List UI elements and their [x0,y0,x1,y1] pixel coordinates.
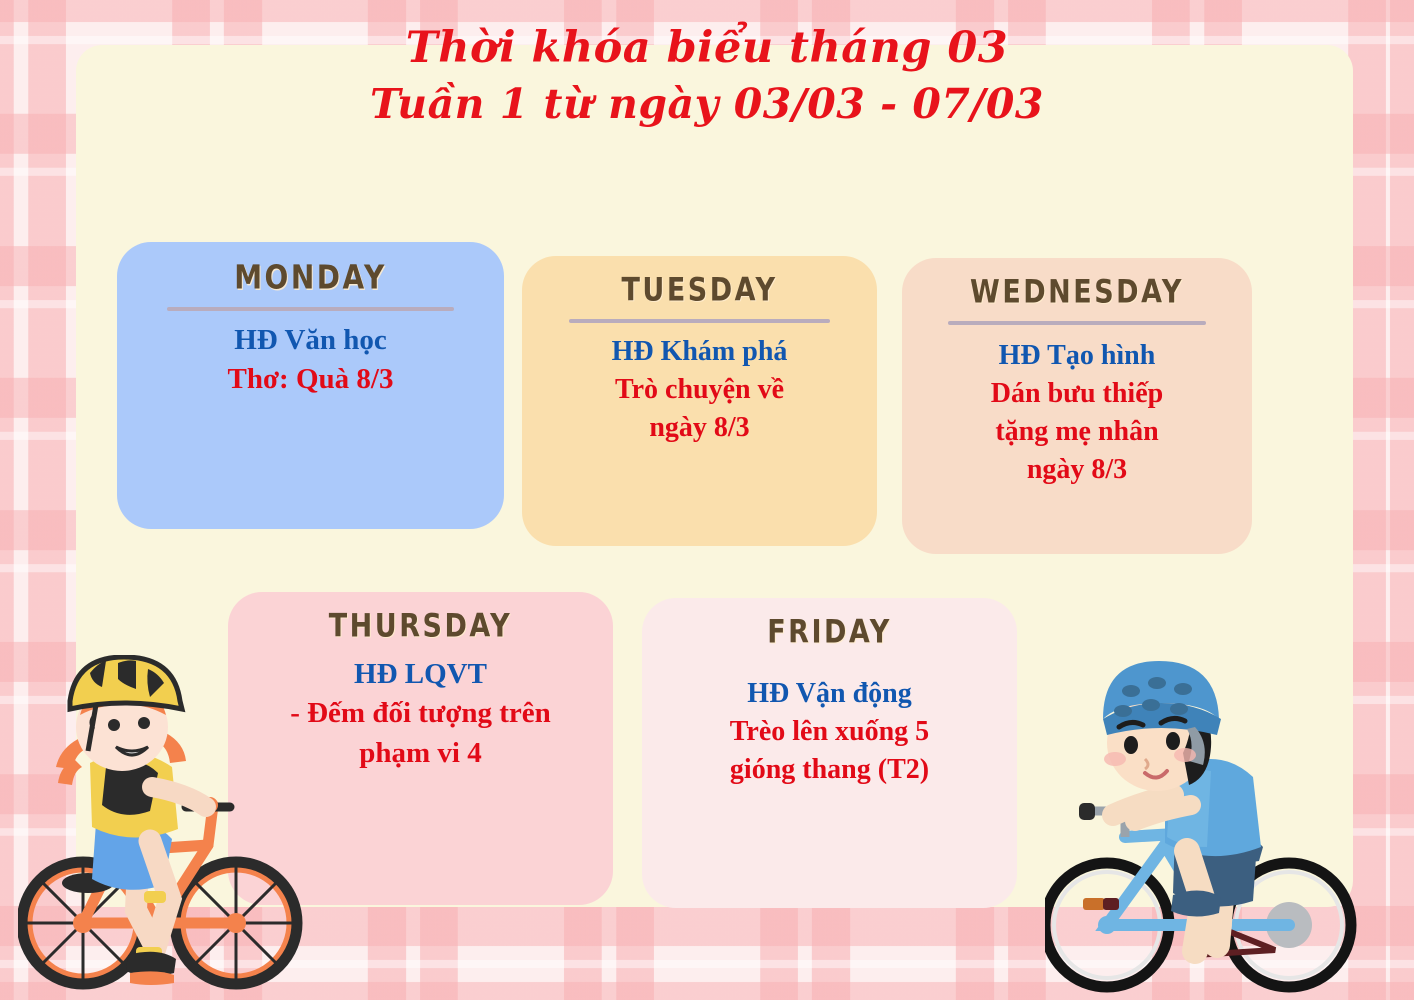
day-subject-wednesday: HĐ Tạo hình [920,337,1234,375]
day-subject-friday: HĐ Vận động [660,675,999,713]
day-header-friday: FRIDAY [660,614,999,651]
day-body-wednesday: HĐ Tạo hình Dán bưu thiếp tặng mẹ nhân n… [920,337,1234,489]
day-divider-wednesday [948,321,1205,325]
poster-title: Thời khóa biểu tháng 03 Tuần 1 từ ngày 0… [0,20,1414,131]
day-header-tuesday: TUESDAY [540,272,859,309]
day-header-wednesday: WEDNESDAY [920,274,1234,311]
day-header-thursday: THURSDAY [246,608,595,645]
day-detail-friday-line-1: Trèo lên xuống 5 [660,713,999,751]
day-header-monday: MONDAY [135,258,486,297]
day-detail-tuesday-line-2: ngày 8/3 [540,409,859,447]
day-divider-tuesday [569,319,831,323]
day-body-friday: HĐ Vận động Trèo lên xuống 5 gióng thang… [660,675,999,789]
day-card-wednesday[interactable]: WEDNESDAY HĐ Tạo hình Dán bưu thiếp tặng… [902,258,1252,554]
day-detail-wednesday-line-3: ngày 8/3 [920,451,1234,489]
title-line-2: Tuần 1 từ ngày 03/03 - 07/03 [0,77,1414,131]
day-body-monday: HĐ Văn học Thơ: Quà 8/3 [135,321,486,400]
day-body-tuesday: HĐ Khám phá Trò chuyện về ngày 8/3 [540,333,859,447]
day-card-monday[interactable]: MONDAY HĐ Văn học Thơ: Quà 8/3 [117,242,504,529]
day-detail-wednesday-line-2: tặng mẹ nhân [920,413,1234,451]
day-detail-tuesday-line-1: Trò chuyện về [540,371,859,409]
day-divider-monday [167,307,455,311]
day-subject-tuesday: HĐ Khám phá [540,333,859,371]
day-detail-monday-line-1: Thơ: Quà 8/3 [135,360,486,399]
day-detail-friday-line-2: gióng thang (T2) [660,751,999,789]
day-detail-wednesday-line-1: Dán bưu thiếp [920,375,1234,413]
girl-on-bicycle-illustration [18,655,308,1000]
title-line-1: Thời khóa biểu tháng 03 [0,20,1414,77]
day-card-tuesday[interactable]: TUESDAY HĐ Khám phá Trò chuyện về ngày 8… [522,256,877,546]
day-card-friday[interactable]: FRIDAY HĐ Vận động Trèo lên xuống 5 gión… [642,598,1017,908]
weekly-schedule-poster: Thời khóa biểu tháng 03 Tuần 1 từ ngày 0… [0,0,1414,1000]
boy-on-bicycle-illustration [1045,655,1365,1000]
day-subject-monday: HĐ Văn học [135,321,486,360]
